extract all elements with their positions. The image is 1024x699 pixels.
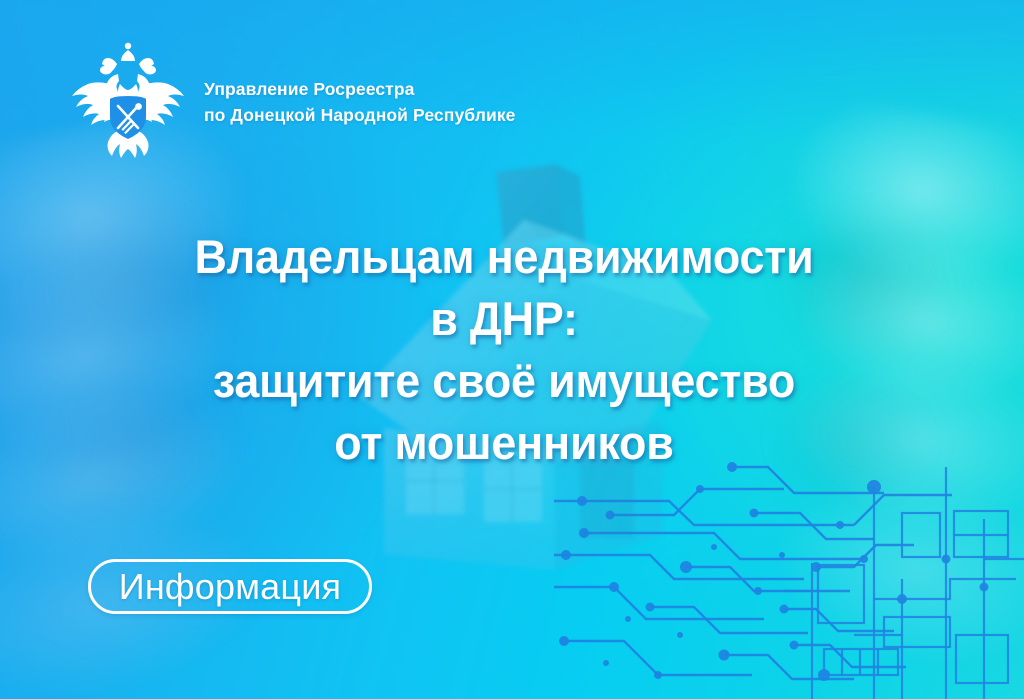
rosreestr-eagle-icon <box>66 40 190 164</box>
headline-line-4: от мошенников <box>23 412 986 474</box>
header: Управление Росреестра по Донецкой Народн… <box>66 40 516 164</box>
headline-line-3: защитите своё имущество <box>23 350 986 412</box>
organization-name: Управление Росреестра по Донецкой Народн… <box>204 76 516 128</box>
headline-line-2: в ДНР: <box>23 288 986 350</box>
promotional-banner: Управление Росреестра по Донецкой Народн… <box>0 0 1024 699</box>
information-badge[interactable]: Информация <box>88 559 372 614</box>
circuit-board-pattern <box>554 459 1024 699</box>
headline-line-1: Владельцам недвижимости <box>23 226 986 288</box>
headline: Владельцам недвижимости в ДНР: защитите … <box>23 226 986 474</box>
information-badge-label: Информация <box>119 569 341 605</box>
